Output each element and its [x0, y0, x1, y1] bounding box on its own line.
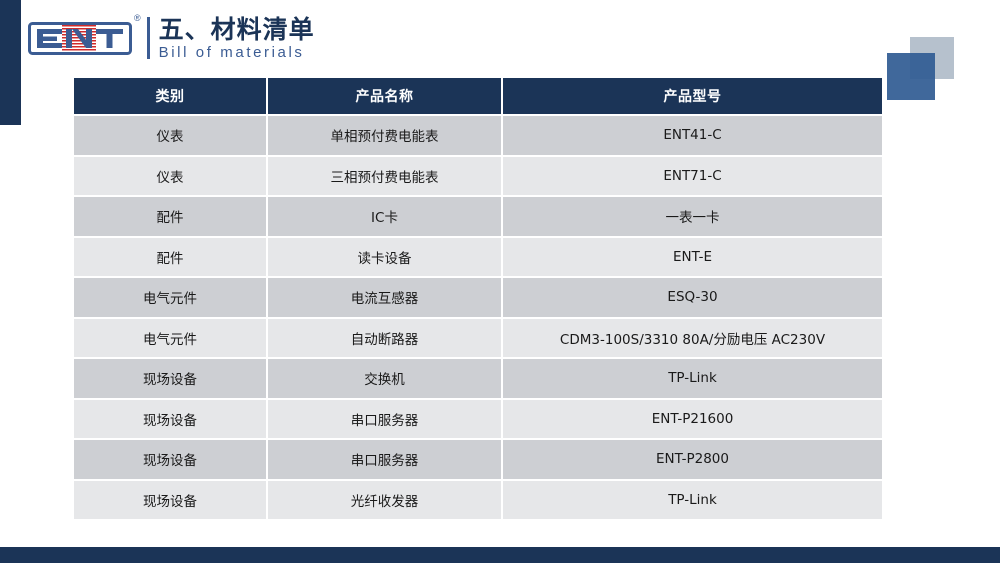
table-row: 现场设备交换机TP-Link [74, 359, 882, 398]
column-header-product-model: 产品型号 [503, 78, 882, 114]
cell-product-model: TP-Link [503, 481, 882, 520]
cell-product-model: 一表一卡 [503, 197, 882, 236]
left-accent-bar [0, 0, 21, 125]
cell-category: 现场设备 [74, 359, 266, 398]
page-title: 五、材料清单 [159, 17, 315, 42]
cell-product-model: ESQ-30 [503, 278, 882, 317]
ent-logo-icon [28, 22, 132, 55]
bottom-accent-bar [0, 547, 1000, 563]
table-row: 电气元件电流互感器ESQ-30 [74, 278, 882, 317]
table-row: 现场设备光纤收发器TP-Link [74, 481, 882, 520]
cell-product-model: ENT-P21600 [503, 400, 882, 439]
cell-product-name: IC卡 [268, 197, 501, 236]
cell-category: 配件 [74, 197, 266, 236]
cell-product-name: 自动断路器 [268, 319, 501, 358]
slide-canvas: ® 五、材料清单 Bill of materials 类别 产品名称 产品型号 … [0, 0, 1000, 563]
table-row: 现场设备串口服务器ENT-P21600 [74, 400, 882, 439]
cell-product-name: 光纤收发器 [268, 481, 501, 520]
slide-header: ® 五、材料清单 Bill of materials [28, 10, 315, 66]
cell-category: 现场设备 [74, 440, 266, 479]
header-divider [147, 17, 150, 59]
cell-category: 现场设备 [74, 481, 266, 520]
table-header-row: 类别 产品名称 产品型号 [74, 78, 882, 114]
cell-product-model: TP-Link [503, 359, 882, 398]
table-row: 配件IC卡一表一卡 [74, 197, 882, 236]
column-header-product-name: 产品名称 [268, 78, 501, 114]
table-row: 仪表三相预付费电能表ENT71-C [74, 157, 882, 196]
cell-product-model: ENT-P2800 [503, 440, 882, 479]
cell-category: 电气元件 [74, 319, 266, 358]
cell-product-name: 串口服务器 [268, 440, 501, 479]
table-row: 配件读卡设备ENT-E [74, 238, 882, 277]
cell-product-name: 交换机 [268, 359, 501, 398]
cell-category: 现场设备 [74, 400, 266, 439]
cell-product-name: 串口服务器 [268, 400, 501, 439]
table-row: 仪表单相预付费电能表ENT41-C [74, 116, 882, 155]
cell-category: 电气元件 [74, 278, 266, 317]
table-row: 现场设备串口服务器ENT-P2800 [74, 440, 882, 479]
cell-category: 仪表 [74, 157, 266, 196]
page-subtitle: Bill of materials [159, 45, 315, 60]
cell-category: 配件 [74, 238, 266, 277]
cell-product-name: 三相预付费电能表 [268, 157, 501, 196]
cell-product-name: 读卡设备 [268, 238, 501, 277]
cell-product-model: CDM3-100S/3310 80A/分励电压 AC230V [503, 319, 882, 358]
cell-product-name: 单相预付费电能表 [268, 116, 501, 155]
cell-product-model: ENT41-C [503, 116, 882, 155]
registered-trademark-mark: ® [134, 13, 141, 23]
cell-product-model: ENT-E [503, 238, 882, 277]
cell-product-name: 电流互感器 [268, 278, 501, 317]
cell-category: 仪表 [74, 116, 266, 155]
decorative-square-blue [887, 53, 935, 100]
bill-of-materials-table: 类别 产品名称 产品型号 仪表单相预付费电能表ENT41-C仪表三相预付费电能表… [72, 76, 884, 521]
column-header-category: 类别 [74, 78, 266, 114]
cell-product-model: ENT71-C [503, 157, 882, 196]
table-row: 电气元件自动断路器CDM3-100S/3310 80A/分励电压 AC230V [74, 319, 882, 358]
title-block: 五、材料清单 Bill of materials [159, 17, 315, 60]
